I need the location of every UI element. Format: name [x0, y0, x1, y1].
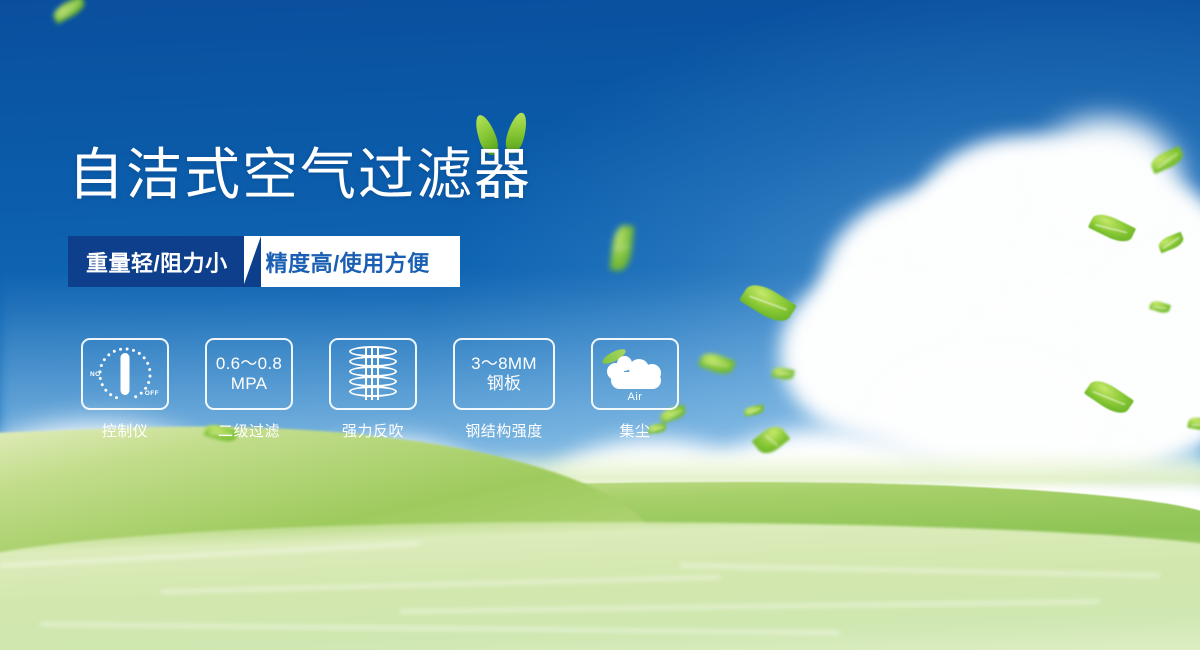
feature-label-backblow: 强力反吹	[342, 420, 404, 441]
feature-item-backblow[interactable]: 强力反吹	[329, 338, 417, 441]
grass-field	[0, 442, 1200, 650]
subtitle-right-text: 精度高/使用方便	[244, 236, 460, 287]
feature-item-dust[interactable]: Air 集尘	[591, 338, 679, 441]
pressure-value-line2: MPA	[231, 374, 267, 394]
feature-label-controller: 控制仪	[102, 420, 149, 441]
feature-box-dust[interactable]: Air	[591, 338, 679, 410]
product-hero-banner: 自洁式空气过滤器 重量轻/阻力小 精度高/使用方便 NO OFF	[0, 0, 1200, 650]
gauge-icon: NO OFF	[93, 347, 157, 401]
subtitle-banner: 重量轻/阻力小 精度高/使用方便	[68, 236, 460, 287]
feature-label-dust: 集尘	[619, 420, 650, 441]
feature-box-filtration[interactable]: 0.6〜0.8 MPA	[205, 338, 293, 410]
feature-box-backblow[interactable]	[329, 338, 417, 410]
air-label: Air	[605, 391, 665, 403]
pressure-value-line1: 0.6〜0.8	[216, 354, 282, 374]
coil-filter-icon	[349, 346, 397, 402]
subtitle-left-text: 重量轻/阻力小	[68, 236, 244, 287]
feature-item-controller[interactable]: NO OFF	[81, 338, 169, 441]
feature-label-filtration: 二级过滤	[218, 420, 280, 441]
feature-label-steel: 钢结构强度	[465, 420, 543, 441]
steel-value-line2: 钢板	[487, 374, 522, 394]
air-cloud-icon: Air	[605, 351, 665, 397]
feature-item-steel[interactable]: 3〜8MM 钢板 钢结构强度	[453, 338, 555, 441]
page-title: 自洁式空气过滤器	[68, 143, 532, 207]
gauge-off-label: OFF	[145, 390, 159, 397]
feature-box-controller[interactable]: NO OFF	[81, 338, 169, 410]
steel-value-line1: 3〜8MM	[471, 354, 537, 374]
feature-box-steel[interactable]: 3〜8MM 钢板	[453, 338, 555, 410]
feature-item-filtration[interactable]: 0.6〜0.8 MPA 二级过滤	[205, 338, 293, 441]
feature-icon-row: NO OFF	[81, 338, 679, 441]
